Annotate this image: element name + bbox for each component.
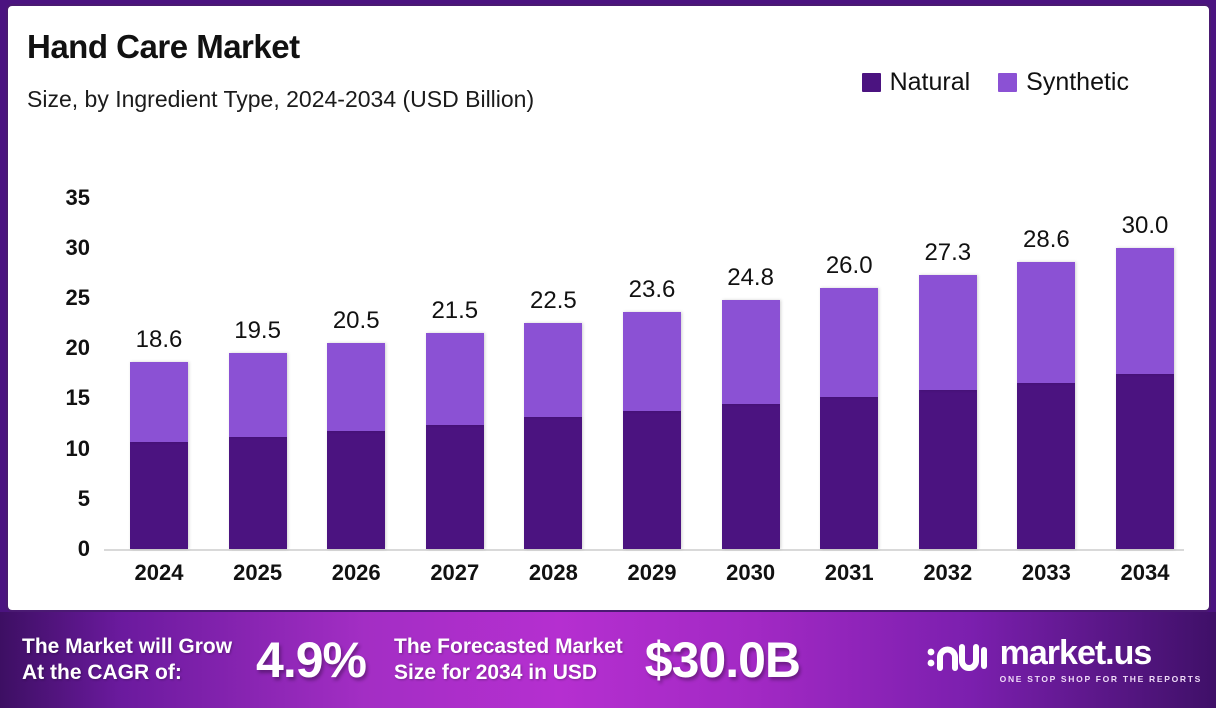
bar-group-2026[interactable]: 20.5 (327, 343, 385, 549)
bar-segment-natural-2024[interactable] (130, 442, 188, 549)
bar-group-2032[interactable]: 27.3 (919, 275, 977, 549)
bar-segment-natural-2027[interactable] (426, 425, 484, 549)
y-axis-tick-15: 15 (32, 385, 90, 411)
bar-value-label-2034: 30.0 (1085, 212, 1205, 240)
cagr-caption-line1: The Market will Grow (22, 634, 232, 660)
bar-segment-synthetic-2028[interactable] (524, 323, 582, 417)
bar-segment-synthetic-2031[interactable] (820, 288, 878, 397)
bar-group-2029[interactable]: 23.6 (623, 312, 681, 549)
bar-group-2024[interactable]: 18.6 (130, 362, 188, 549)
bar-segment-natural-2030[interactable] (722, 404, 780, 549)
bar-segment-synthetic-2029[interactable] (623, 312, 681, 411)
y-axis-tick-20: 20 (32, 335, 90, 361)
market-us-wordmark: market.us ONE STOP SHOP FOR THE REPORTS (1000, 636, 1202, 684)
bar-chart-plot: 0510152025303518.6202419.5202520.5202621… (8, 6, 1211, 610)
cagr-value: 4.9% (256, 631, 366, 689)
forecast-value: $30.0B (645, 631, 800, 689)
bar-group-2027[interactable]: 21.5 (426, 333, 484, 549)
bar-segment-natural-2033[interactable] (1017, 383, 1075, 549)
bar-segment-synthetic-2034[interactable] (1116, 248, 1174, 375)
bar-segment-synthetic-2032[interactable] (919, 275, 977, 390)
bar-segment-natural-2032[interactable] (919, 390, 977, 549)
bar-segment-synthetic-2026[interactable] (327, 343, 385, 430)
bar-segment-natural-2029[interactable] (623, 411, 681, 549)
bar-segment-synthetic-2025[interactable] (229, 353, 287, 436)
cagr-caption-line2: At the CAGR of: (22, 660, 232, 686)
bar-segment-natural-2031[interactable] (820, 397, 878, 549)
bar-group-2031[interactable]: 26.0 (820, 288, 878, 549)
x-axis-line (104, 549, 1184, 551)
chart-card: Hand Care Market Size, by Ingredient Typ… (6, 4, 1211, 612)
logo-tagline: ONE STOP SHOP FOR THE REPORTS (1000, 675, 1202, 684)
market-us-logo[interactable]: market.us ONE STOP SHOP FOR THE REPORTS (926, 636, 1202, 684)
y-axis-tick-10: 10 (32, 436, 90, 462)
bar-group-2030[interactable]: 24.8 (722, 300, 780, 549)
footer-banner: The Market will Grow At the CAGR of: 4.9… (0, 612, 1216, 708)
infographic-root: Hand Care Market Size, by Ingredient Typ… (0, 0, 1216, 708)
bar-group-2025[interactable]: 19.5 (229, 353, 287, 549)
y-axis-tick-35: 35 (32, 185, 90, 211)
bar-segment-synthetic-2024[interactable] (130, 362, 188, 441)
bar-group-2028[interactable]: 22.5 (524, 323, 582, 549)
bar-group-2034[interactable]: 30.0 (1116, 248, 1174, 549)
cagr-caption: The Market will Grow At the CAGR of: (22, 634, 232, 685)
market-us-mark-icon (926, 638, 988, 683)
y-axis-tick-0: 0 (32, 536, 90, 562)
bar-segment-natural-2026[interactable] (327, 431, 385, 549)
bar-segment-natural-2034[interactable] (1116, 374, 1174, 549)
x-axis-tick-2034: 2034 (1080, 560, 1210, 586)
forecast-caption-line2: Size for 2034 in USD (394, 660, 623, 686)
bar-segment-natural-2025[interactable] (229, 437, 287, 549)
bar-segment-synthetic-2027[interactable] (426, 333, 484, 424)
y-axis-tick-25: 25 (32, 285, 90, 311)
bar-segment-synthetic-2033[interactable] (1017, 262, 1075, 383)
forecast-caption-line1: The Forecasted Market (394, 634, 623, 660)
y-axis-tick-5: 5 (32, 486, 90, 512)
bar-segment-synthetic-2030[interactable] (722, 300, 780, 404)
bar-segment-natural-2028[interactable] (524, 417, 582, 549)
forecast-caption: The Forecasted Market Size for 2034 in U… (394, 634, 623, 685)
bar-group-2033[interactable]: 28.6 (1017, 262, 1075, 549)
logo-word: market.us (1000, 634, 1152, 672)
y-axis-tick-30: 30 (32, 235, 90, 261)
